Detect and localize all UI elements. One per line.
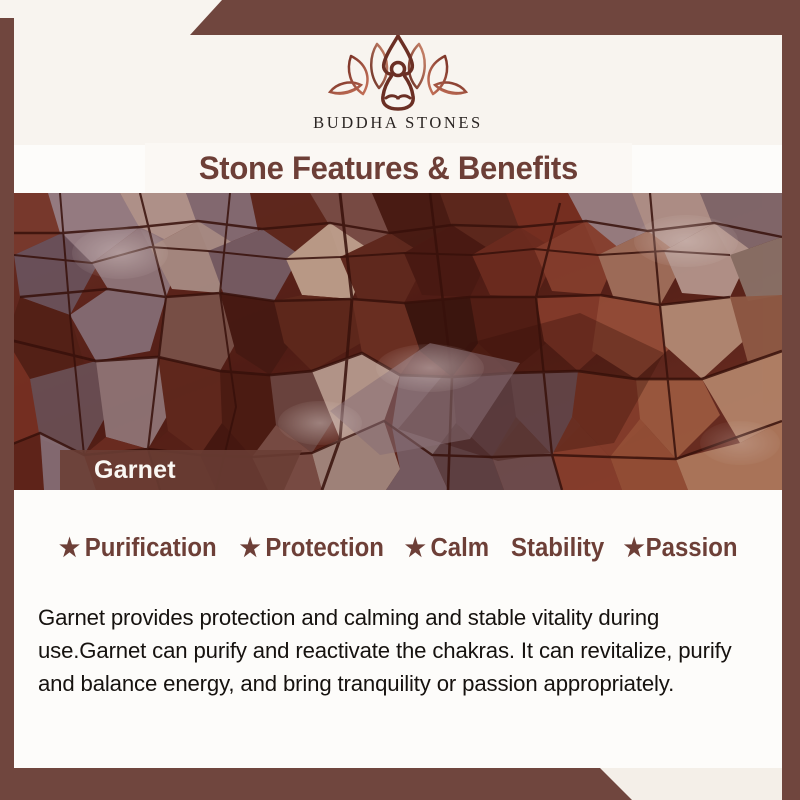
star-icon: ★	[240, 536, 261, 561]
star-icon: ★	[59, 536, 80, 561]
frame-top-right-bar	[0, 0, 800, 35]
keyword-calm: ★Calm	[404, 534, 488, 563]
infographic-page: BUDDHA STONES	[0, 0, 800, 800]
section-title-banner: Stone Features & Benefits	[145, 143, 632, 193]
garnet-crystal-photo	[0, 193, 782, 490]
page-title: Stone Features & Benefits	[199, 150, 578, 187]
keyword-label: Calm	[430, 534, 489, 563]
frame-bottom-right-fill	[600, 768, 800, 800]
keyword-label: Stability	[511, 534, 604, 563]
keyword-protection: ★Protection	[240, 534, 384, 563]
keyword-label: Purification	[85, 534, 217, 563]
keyword-stability: Stability	[511, 534, 604, 563]
keyword-passion: ★Passion	[624, 534, 738, 563]
stone-name-bar: Garnet	[60, 450, 302, 490]
keyword-label: Passion	[646, 534, 738, 563]
keyword-label: Protection	[265, 534, 384, 563]
benefit-keyword-list: ★Purification★Protection★CalmStability★P…	[14, 524, 782, 572]
star-icon: ★	[404, 536, 425, 561]
star-icon: ★	[624, 536, 645, 561]
brand-header: BUDDHA STONES	[14, 35, 782, 145]
stone-name: Garnet	[94, 456, 176, 485]
lotus-meditation-icon	[323, 33, 473, 113]
keyword-purification: ★Purification	[59, 534, 217, 563]
brand-name: BUDDHA STONES	[313, 113, 483, 133]
frame-left-bar	[0, 18, 14, 800]
stone-description: Garnet provides protection and calming a…	[38, 601, 739, 700]
frame-right-bar	[782, 0, 800, 800]
